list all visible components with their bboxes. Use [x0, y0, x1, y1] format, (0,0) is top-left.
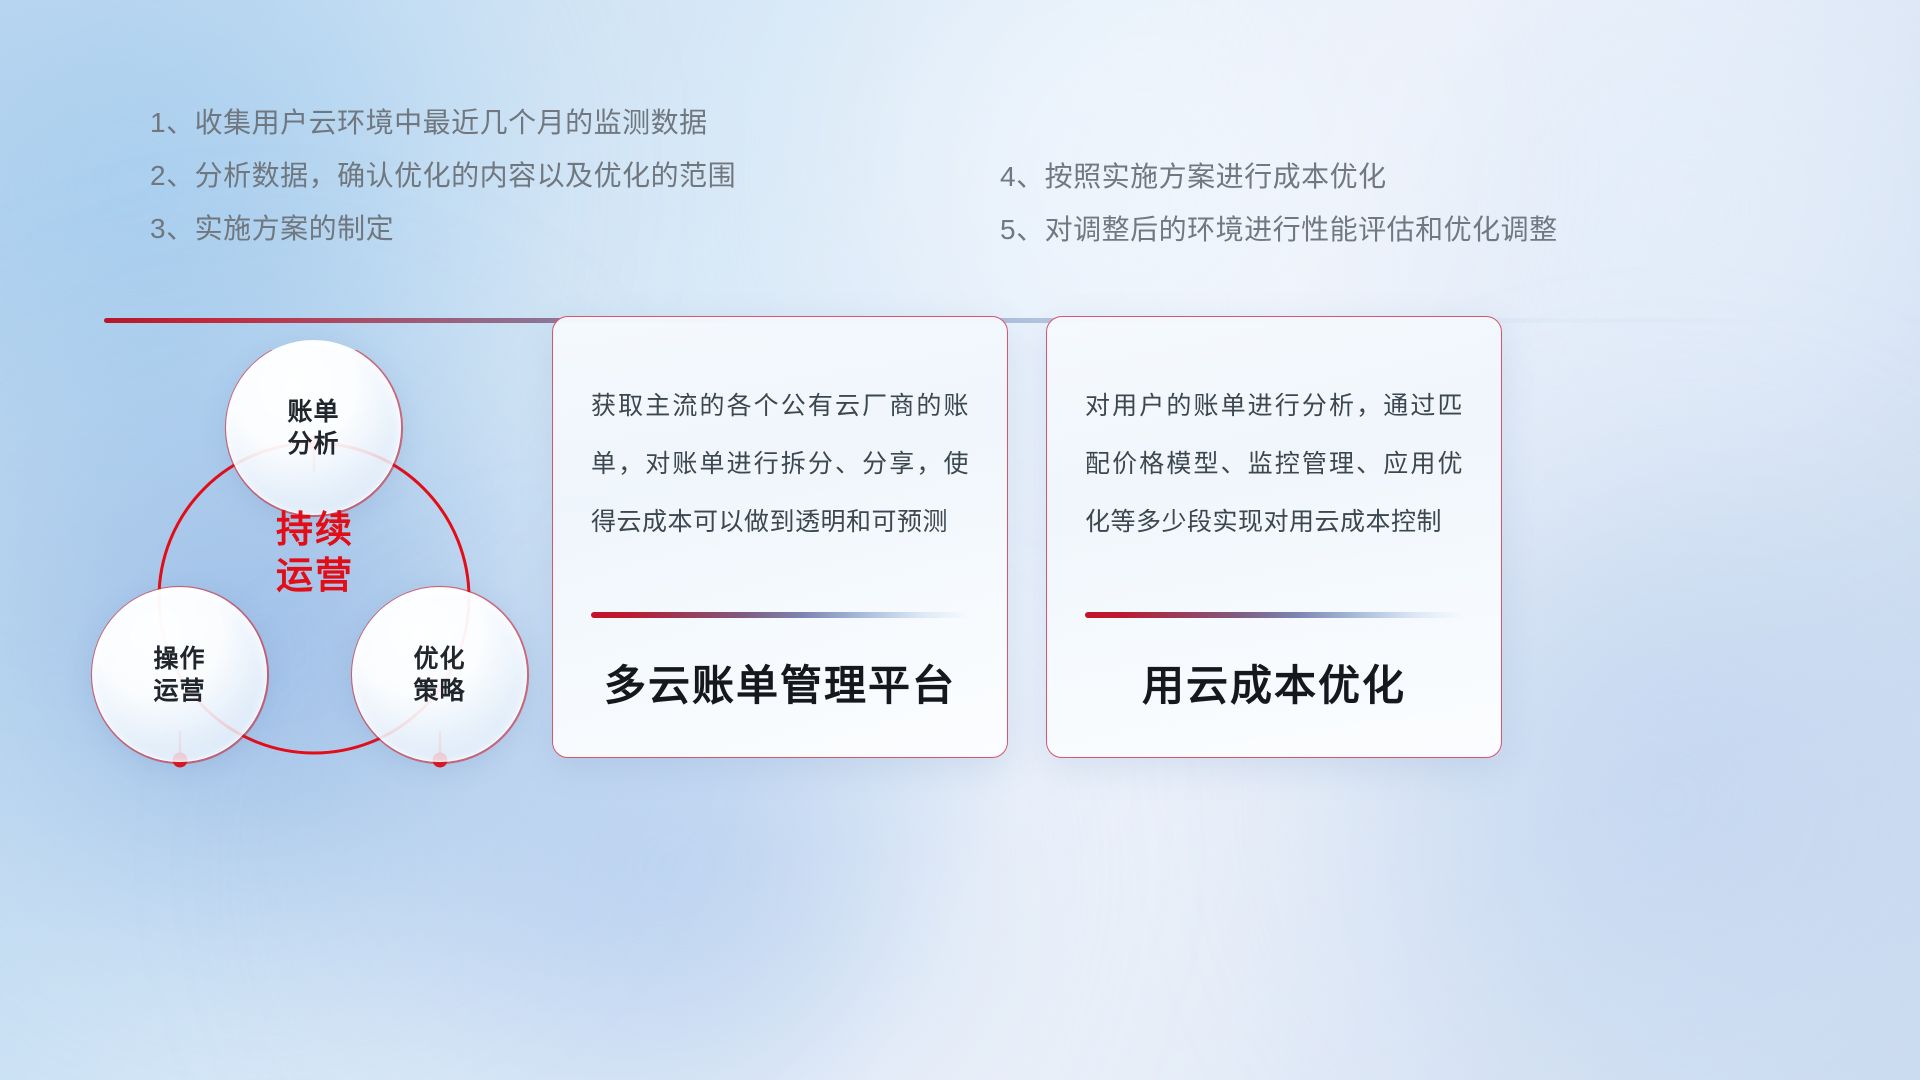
- venn-label-line-1: 账单: [287, 396, 339, 428]
- process-step-list: 1、收集用户云环境中最近几个月的监测数据 2、分析数据，确认优化的内容以及优化的…: [0, 0, 1920, 262]
- venn-center-label: 持续 运营: [215, 498, 415, 608]
- venn-circle-optimization-strategy[interactable]: 优化 策略: [352, 587, 527, 762]
- venn-label-line-2: 运营: [153, 675, 205, 707]
- list-item: 5、对调整后的环境进行性能评估和优化调整: [1000, 203, 1558, 256]
- process-step-list-right-column: 4、按照实施方案进行成本优化 5、对调整后的环境进行性能评估和优化调整: [1000, 150, 1558, 256]
- venn-label-line-2: 分析: [287, 428, 339, 460]
- list-item: 3、实施方案的制定: [150, 202, 736, 255]
- venn-circle-billing-analysis[interactable]: 账单 分析: [226, 340, 401, 515]
- list-item: 1、收集用户云环境中最近几个月的监测数据: [150, 96, 736, 149]
- venn-label-line-2: 策略: [413, 675, 465, 707]
- list-item: 2、分析数据，确认优化的内容以及优化的范围: [150, 149, 736, 202]
- feature-card-multicloud-billing[interactable]: 获取主流的各个公有云厂商的账单，对账单进行拆分、分享，使得云成本可以做到透明和可…: [552, 316, 1008, 758]
- feature-card-body: 获取主流的各个公有云厂商的账单，对账单进行拆分、分享，使得云成本可以做到透明和可…: [591, 377, 969, 551]
- venn-circle-label: 优化 策略: [413, 643, 465, 707]
- feature-card-title: 多云账单管理平台: [591, 618, 969, 757]
- venn-circle-operations[interactable]: 操作 运营: [92, 587, 267, 762]
- venn-center-line-2: 运营: [276, 553, 354, 599]
- feature-card-body: 对用户的账单进行分析，通过匹配价格模型、监控管理、应用优化等多少段实现对用云成本…: [1085, 377, 1463, 551]
- process-step-list-left-column: 1、收集用户云环境中最近几个月的监测数据 2、分析数据，确认优化的内容以及优化的…: [150, 96, 736, 255]
- feature-card-title: 用云成本优化: [1085, 618, 1463, 757]
- venn-center-line-1: 持续: [276, 507, 354, 553]
- venn-diagram: 账单 分析 操作 运营 优化 策略 持续 运营: [70, 350, 610, 950]
- venn-circle-label: 账单 分析: [287, 396, 339, 460]
- list-item: 4、按照实施方案进行成本优化: [1000, 150, 1558, 203]
- venn-circle-label: 操作 运营: [153, 643, 205, 707]
- venn-label-line-1: 操作: [153, 643, 205, 675]
- feature-card-cost-optimization[interactable]: 对用户的账单进行分析，通过匹配价格模型、监控管理、应用优化等多少段实现对用云成本…: [1046, 316, 1502, 758]
- venn-label-line-1: 优化: [413, 643, 465, 675]
